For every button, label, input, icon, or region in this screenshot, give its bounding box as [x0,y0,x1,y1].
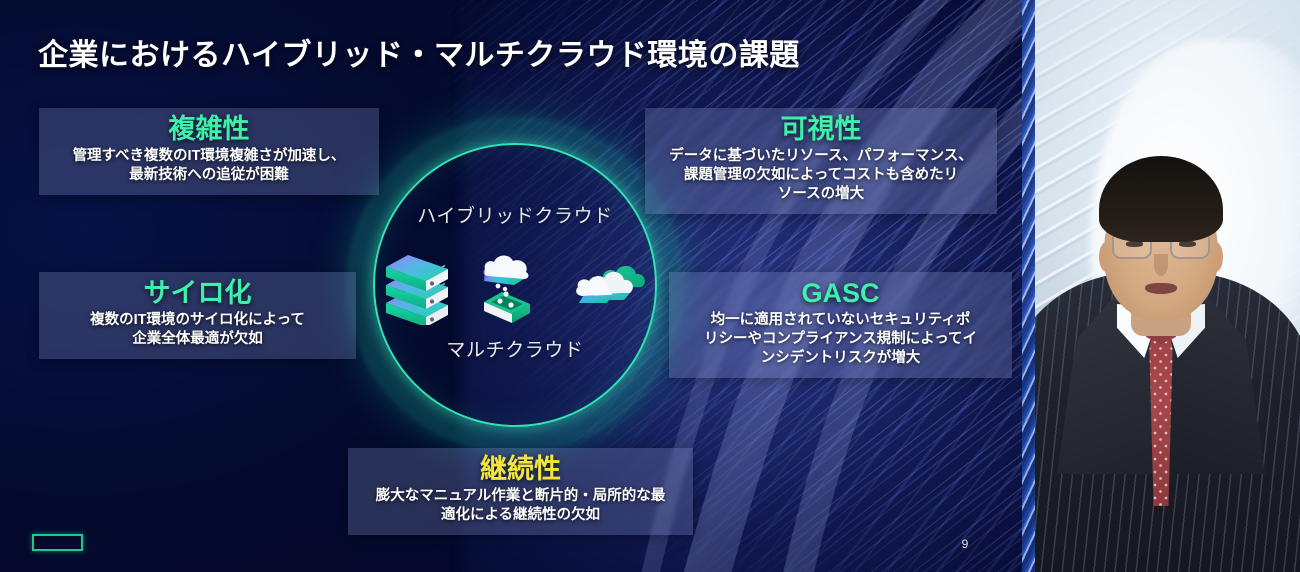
card-complexity-line-2: 最新技術への追従が困難 [49,166,369,185]
ring-label-multi-cloud: マルチクラウド [373,335,657,362]
ring-label-hybrid-cloud: ハイブリッドクラウド [373,201,657,228]
page-title: 企業におけるハイブリッド・マルチクラウド環境の課題 [38,30,800,74]
card-visibility-line-3: ソースの増大 [655,185,987,204]
card-complexity-heading: 複雑性 [49,114,369,146]
card-silo-heading: サイロ化 [49,278,346,310]
presenter-nose [1154,254,1168,276]
ring-icon-group [373,249,657,329]
card-gasc-line-2: リシーやコンプライアンス規制によってイ [679,330,1002,349]
card-visibility-body: データに基づいたリソース、パフォーマンス、 課題管理の欠如によってコストも含めた… [655,147,987,204]
card-gasc-heading: GASC [679,278,1002,310]
card-continuity-line-2: 適化による継続性の欠如 [358,506,683,525]
card-continuity-body: 膨大なマニュアル作業と断片的・局所的な最 適化による継続性の欠如 [358,487,683,525]
card-continuity[interactable]: 継続性 膨大なマニュアル作業と断片的・局所的な最 適化による継続性の欠如 [348,448,693,535]
card-silo-body: 複数のIT環境のサイロ化によって 企業全体最適が欠如 [49,311,346,349]
center-diagram: ハイブリッドクラウド [373,143,657,427]
card-silo-line-2: 企業全体最適が欠如 [49,330,346,349]
card-complexity-body: 管理すべき複数のIT環境複雑さが加速し、 最新技術への追従が困難 [49,147,369,185]
presenter-video-feed[interactable] [1022,0,1300,572]
card-silo-line-1: 複数のIT環境のサイロ化によって [49,311,346,330]
card-gasc-line-3: ンシデントリスクが増大 [679,349,1002,368]
hpe-logo [32,534,83,551]
card-gasc-body: 均一に適用されていないセキュリティポ リシーやコンプライアンス規制によってイ ン… [679,311,1002,368]
card-gasc[interactable]: GASC 均一に適用されていないセキュリティポ リシーやコンプライアンス規制によ… [669,272,1012,378]
server-stack-icon [384,253,454,325]
card-complexity-line-1: 管理すべき複数のIT環境複雑さが加速し、 [49,147,369,166]
page-number: 9 [955,537,975,551]
card-visibility-line-2: 課題管理の欠如によってコストも含めたリ [655,166,987,185]
card-gasc-line-1: 均一に適用されていないセキュリティポ [679,311,1002,330]
multi-cloud-icon [572,258,646,320]
card-silo[interactable]: サイロ化 複数のIT環境のサイロ化によって 企業全体最適が欠如 [39,272,356,359]
card-visibility-heading: 可視性 [655,114,987,146]
video-left-edge-strip [1022,0,1035,572]
card-visibility[interactable]: 可視性 データに基づいたリソース、パフォーマンス、 課題管理の欠如によってコスト… [645,108,997,214]
card-continuity-line-1: 膨大なマニュアル作業と断片的・局所的な最 [358,487,683,506]
card-visibility-line-1: データに基づいたリソース、パフォーマンス、 [655,147,987,166]
screen: 企業におけるハイブリッド・マルチクラウド環境の課題 ハイブリッドクラウド [0,0,1300,572]
card-complexity[interactable]: 複雑性 管理すべき複数のIT環境複雑さが加速し、 最新技術への追従が困難 [39,108,379,195]
presenter-mouth [1145,283,1177,294]
card-continuity-heading: 継続性 [358,454,683,486]
hybrid-cloud-node-icon [474,250,552,328]
presentation-slide: 企業におけるハイブリッド・マルチクラウド環境の課題 ハイブリッドクラウド [0,0,1022,572]
